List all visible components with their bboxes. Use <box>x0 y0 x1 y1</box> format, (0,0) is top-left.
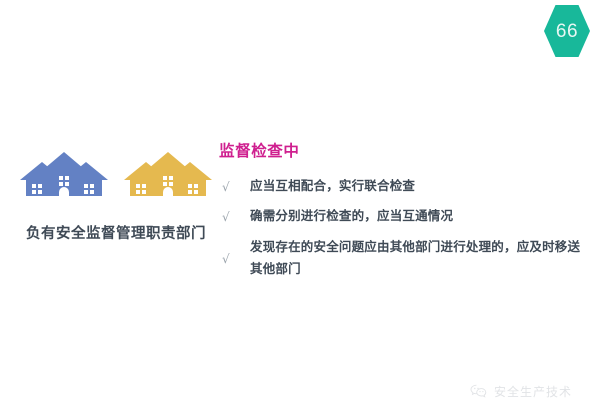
list-item: √ 确需分别进行检查的，应当互通情况 <box>219 206 589 228</box>
list-item: √ 发现存在的安全问题应由其他部门进行处理的，应及时移送 其他部门 <box>219 237 589 281</box>
list-item-line: 确需分别进行检查的，应当互通情况 <box>250 206 589 228</box>
wechat-icon <box>470 384 488 399</box>
content-panel: 监督检查中 √ 应当互相配合，实行联合检查 √ 确需分别进行检查的，应当互通情况… <box>219 143 589 290</box>
footer-watermark: 安全生产技术 <box>470 383 572 400</box>
list-item-text: 发现存在的安全问题应由其他部门进行处理的，应及时移送 其他部门 <box>250 237 589 281</box>
list-item-text: 确需分别进行检查的，应当互通情况 <box>250 206 589 228</box>
list-item-text: 应当互相配合，实行联合检查 <box>250 176 589 198</box>
page-number-badge: 66 <box>544 5 590 57</box>
house-orange-icon <box>124 150 212 198</box>
check-icon: √ <box>219 211 250 223</box>
department-caption: 负有安全监督管理职责部门 <box>16 222 216 243</box>
section-title: 监督检查中 <box>219 143 589 162</box>
check-icon: √ <box>219 181 250 193</box>
slide-canvas: 66 <box>0 0 600 415</box>
list-item-line: 应当互相配合，实行联合检查 <box>250 176 589 198</box>
check-icon: √ <box>219 253 250 265</box>
watermark-label: 安全生产技术 <box>494 383 572 400</box>
list-item-line: 发现存在的安全问题应由其他部门进行处理的，应及时移送 <box>250 237 589 259</box>
list-item-line: 其他部门 <box>250 259 589 281</box>
requirement-list: √ 应当互相配合，实行联合检查 √ 确需分别进行检查的，应当互通情况 √ 发现存… <box>219 176 589 282</box>
department-icon-block: 负有安全监督管理职责部门 <box>16 148 216 243</box>
house-icon-group <box>16 148 216 198</box>
house-blue-icon <box>20 150 108 198</box>
page-number-label: 66 <box>544 5 590 57</box>
list-item: √ 应当互相配合，实行联合检查 <box>219 176 589 198</box>
